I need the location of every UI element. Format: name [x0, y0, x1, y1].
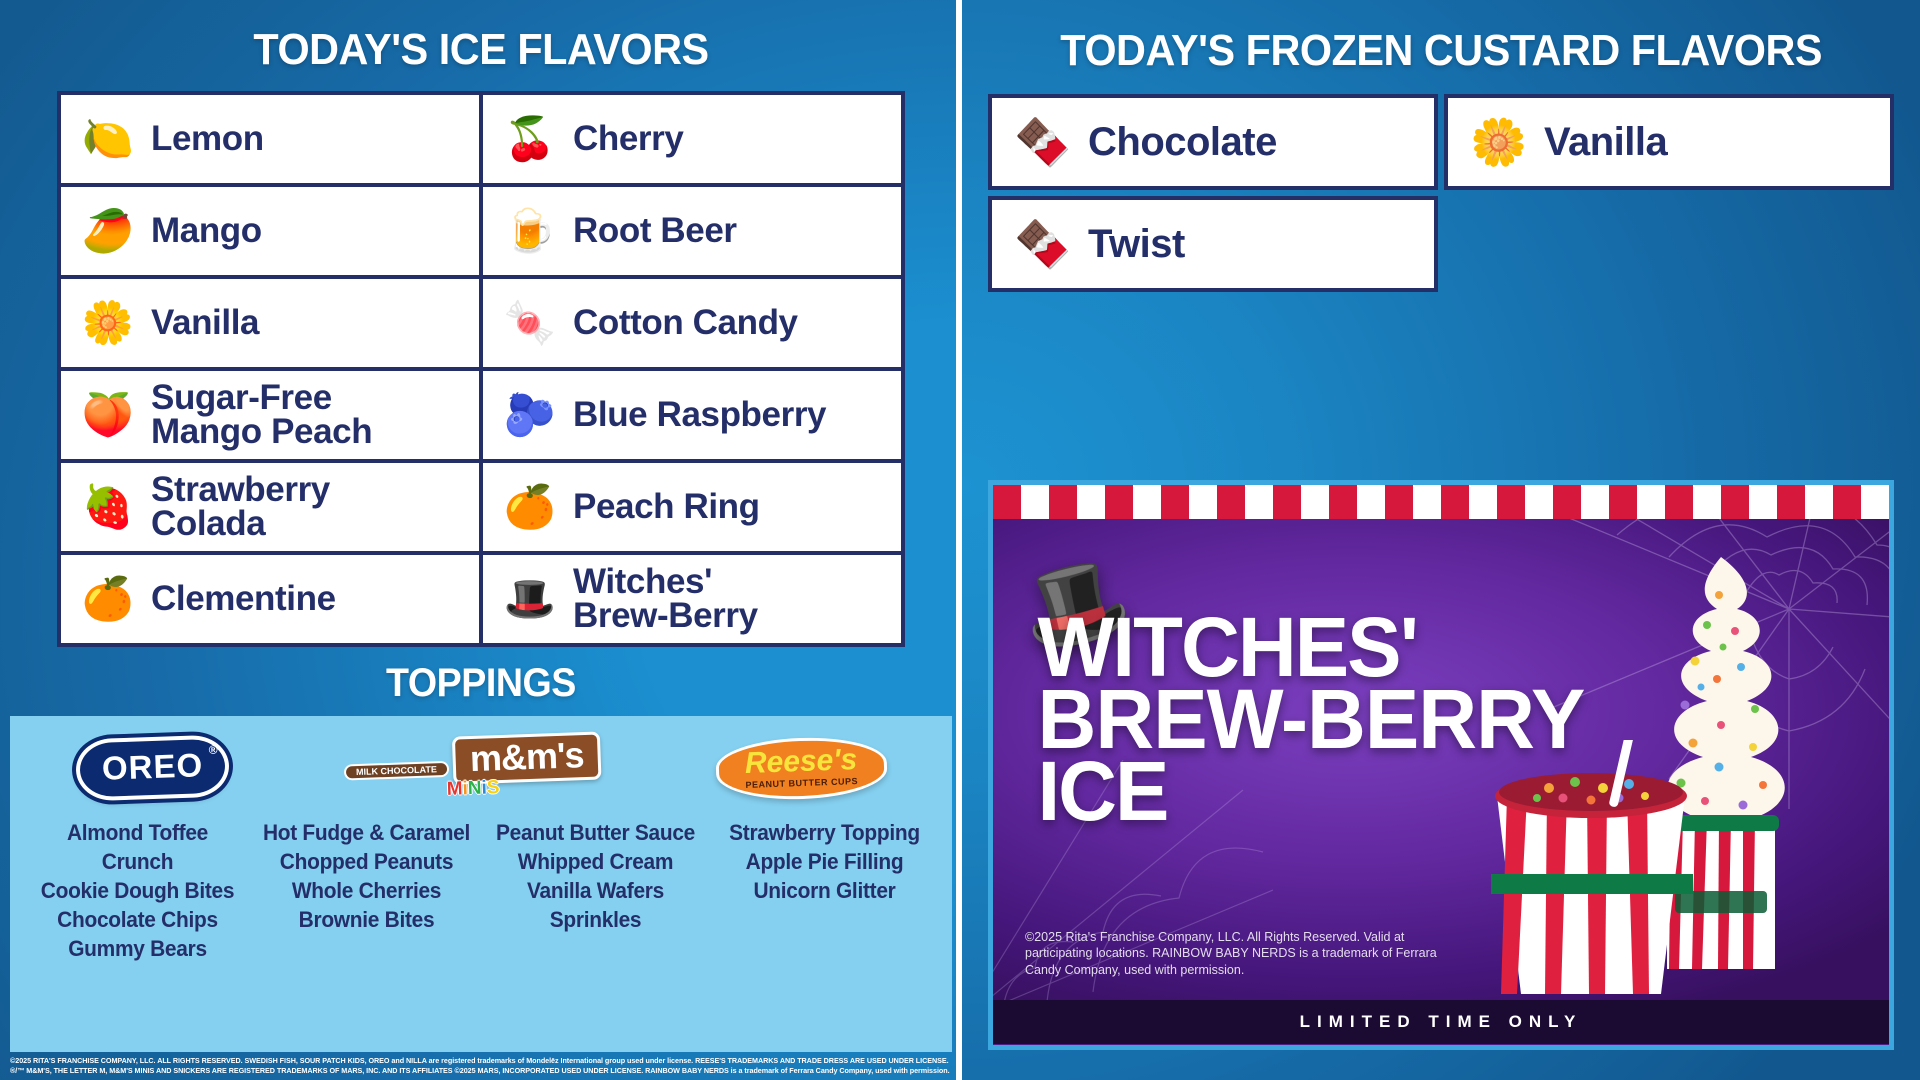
custard-flavors-heading: TODAY'S FROZEN CUSTARD FLAVORS — [1060, 26, 1822, 76]
ice-flavor-label: Blue Raspberry — [573, 398, 826, 432]
ice-flavor-cell[interactable]: 🍺 Root Beer — [483, 187, 901, 275]
promo-title-line-3: ICE — [1037, 755, 1584, 827]
custard-flavor-cell[interactable]: 🌼 Vanilla — [1444, 94, 1894, 190]
toppings-column-2: Hot Fudge & Caramel Chopped Peanuts Whol… — [255, 818, 478, 963]
topping-item: Almond Toffee Crunch — [32, 818, 244, 876]
ice-flavor-cell[interactable]: 🫐 Blue Raspberry — [483, 371, 901, 459]
custard-flavor-label: Twist — [1088, 222, 1185, 267]
mms-minis-logo-icon: MILK CHOCOLATE m&m's MiNiS — [343, 732, 602, 805]
mms-brand: MILK CHOCOLATE m&m's MiNiS — [344, 736, 601, 800]
topping-item: Hot Fudge & Caramel — [261, 818, 473, 847]
toppings-column-3: Peanut Butter Sauce Whipped Cream Vanill… — [484, 818, 707, 963]
custard-flavor-cell[interactable]: 🍫 Chocolate — [988, 94, 1438, 190]
custard-flavor-label: Vanilla — [1544, 120, 1667, 165]
ice-flavor-label: Lemon — [151, 122, 264, 156]
limited-time-only-label: LIMITED TIME ONLY — [1300, 1012, 1583, 1032]
topping-item: Cookie Dough Bites — [32, 876, 244, 905]
root-beer-mug-icon: 🍺 — [499, 210, 561, 252]
topping-item: Unicorn Glitter — [719, 876, 931, 905]
chocolate-chunks-icon: 🍫 — [1010, 115, 1076, 170]
ice-flavor-label: Peach Ring — [573, 490, 760, 524]
topping-item: Vanilla Wafers — [490, 876, 702, 905]
cherry-icon: 🍒 — [499, 118, 561, 160]
ice-flavor-cell[interactable]: 🎩 Witches' Brew-Berry — [483, 555, 901, 643]
menu-board: TODAY'S ICE FLAVORS 🍋 Lemon 🍒 Cherry 🥭 M… — [0, 0, 1920, 1080]
ice-flavor-label: Strawberry Colada — [151, 473, 330, 542]
custard-flavor-cell[interactable]: 🍫 Twist — [988, 196, 1438, 292]
legal-line-2: ®/™ M&M'S, THE LETTER M, M&M'S MINIS AND… — [10, 1066, 952, 1076]
reeses-logo-icon: Reese's PEANUT BUTTER CUPS — [715, 735, 888, 802]
strawberry-colada-icon: 🍓 — [77, 486, 139, 528]
ice-flavor-label: Clementine — [151, 582, 336, 616]
ice-flavor-cell[interactable]: 🌼 Vanilla — [61, 279, 479, 367]
ice-flavor-cell[interactable]: 🍑 Sugar-Free Mango Peach — [61, 371, 479, 459]
ice-flavor-label: Sugar-Free Mango Peach — [151, 381, 372, 450]
vanilla-flower-icon: 🌼 — [77, 302, 139, 344]
topping-item: Chocolate Chips — [32, 905, 244, 934]
ice-flavor-cell[interactable]: 🥭 Mango — [61, 187, 479, 275]
ice-flavor-label: Mango — [151, 214, 262, 248]
topping-item: Apple Pie Filling — [719, 847, 931, 876]
promo-footer-banner: LIMITED TIME ONLY — [993, 1000, 1889, 1044]
ice-flavor-label: Cotton Candy — [573, 306, 798, 340]
vanilla-flower-icon: 🌼 — [1466, 115, 1532, 170]
custard-panel: TODAY'S FROZEN CUSTARD FLAVORS 🍫 Chocola… — [962, 0, 1920, 1080]
mango-peach-icon: 🍑 — [77, 394, 139, 436]
ice-flavor-cell[interactable]: 🍬 Cotton Candy — [483, 279, 901, 367]
ice-flavors-panel: TODAY'S ICE FLAVORS 🍋 Lemon 🍒 Cherry 🥭 M… — [0, 0, 962, 1080]
topping-item: Chopped Peanuts — [261, 847, 473, 876]
toppings-list: Almond Toffee Crunch Cookie Dough Bites … — [18, 814, 944, 963]
lemon-icon: 🍋 — [77, 118, 139, 160]
topping-item: Gummy Bears — [32, 934, 244, 963]
ice-flavor-label: Witches' Brew-Berry — [573, 565, 758, 634]
ice-flavor-label: Vanilla — [151, 306, 259, 340]
topping-item: Sprinkles — [490, 905, 702, 934]
ice-flavor-cell[interactable]: 🍋 Lemon — [61, 95, 479, 183]
peach-ring-candy-icon: 🍊 — [499, 486, 561, 528]
ice-flavor-cell[interactable]: 🍒 Cherry — [483, 95, 901, 183]
witch-hat-icon: 🎩 — [499, 578, 561, 620]
oreo-brand: OREO® — [76, 737, 229, 799]
custard-flavor-label: Chocolate — [1088, 120, 1277, 165]
toppings-heading: TOPPINGS — [29, 661, 933, 706]
topping-brand-logos: OREO® MILK CHOCOLATE m&m's MiNiS Reese's — [18, 730, 944, 806]
custard-grid-empty-slot — [1444, 196, 1894, 292]
mango-icon: 🥭 — [77, 210, 139, 252]
ice-flavors-heading: TODAY'S ICE FLAVORS — [29, 25, 933, 75]
twist-swirl-icon: 🍫 — [1010, 217, 1076, 272]
promo-body: 🎩 — [993, 519, 1889, 1000]
promo-stripe-banner — [993, 485, 1889, 519]
topping-item: Brownie Bites — [261, 905, 473, 934]
legal-disclaimer: ©2025 RITA'S FRANCHISE COMPANY, LLC. ALL… — [0, 1052, 962, 1080]
legal-line-1: ©2025 RITA'S FRANCHISE COMPANY, LLC. ALL… — [10, 1056, 952, 1066]
ice-flavor-cell[interactable]: 🍓 Strawberry Colada — [61, 463, 479, 551]
topping-item: Whipped Cream — [490, 847, 702, 876]
topping-item: Strawberry Topping — [719, 818, 931, 847]
clementine-icon: 🍊 — [77, 578, 139, 620]
ice-flavor-label: Root Beer — [573, 214, 737, 248]
toppings-column-1: Almond Toffee Crunch Cookie Dough Bites … — [26, 818, 249, 963]
toppings-section: OREO® MILK CHOCOLATE m&m's MiNiS Reese's — [10, 716, 952, 1052]
ice-flavor-cell[interactable]: 🍊 Clementine — [61, 555, 479, 643]
oreo-logo-icon: OREO® — [75, 734, 230, 801]
promo-legal-text: ©2025 Rita's Franchise Company, LLC. All… — [1025, 929, 1445, 979]
topping-item: Whole Cherries — [261, 876, 473, 905]
reeses-brand: Reese's PEANUT BUTTER CUPS — [716, 738, 887, 799]
ice-flavor-grid: 🍋 Lemon 🍒 Cherry 🥭 Mango 🍺 Root Beer 🌼 V… — [57, 91, 905, 647]
blue-raspberry-icon: 🫐 — [499, 394, 561, 436]
ice-flavor-label: Cherry — [573, 122, 683, 156]
topping-item: Peanut Butter Sauce — [490, 818, 702, 847]
ice-flavor-cell[interactable]: 🍊 Peach Ring — [483, 463, 901, 551]
promo-title: WITCHES' BREW-BERRY ICE — [1037, 611, 1584, 828]
custard-flavor-grid: 🍫 Chocolate 🌼 Vanilla 🍫 Twist — [988, 94, 1894, 292]
promo-poster[interactable]: 🎩 — [988, 480, 1894, 1050]
toppings-column-4: Strawberry Topping Apple Pie Filling Uni… — [713, 818, 936, 963]
cotton-candy-icon: 🍬 — [499, 302, 561, 344]
